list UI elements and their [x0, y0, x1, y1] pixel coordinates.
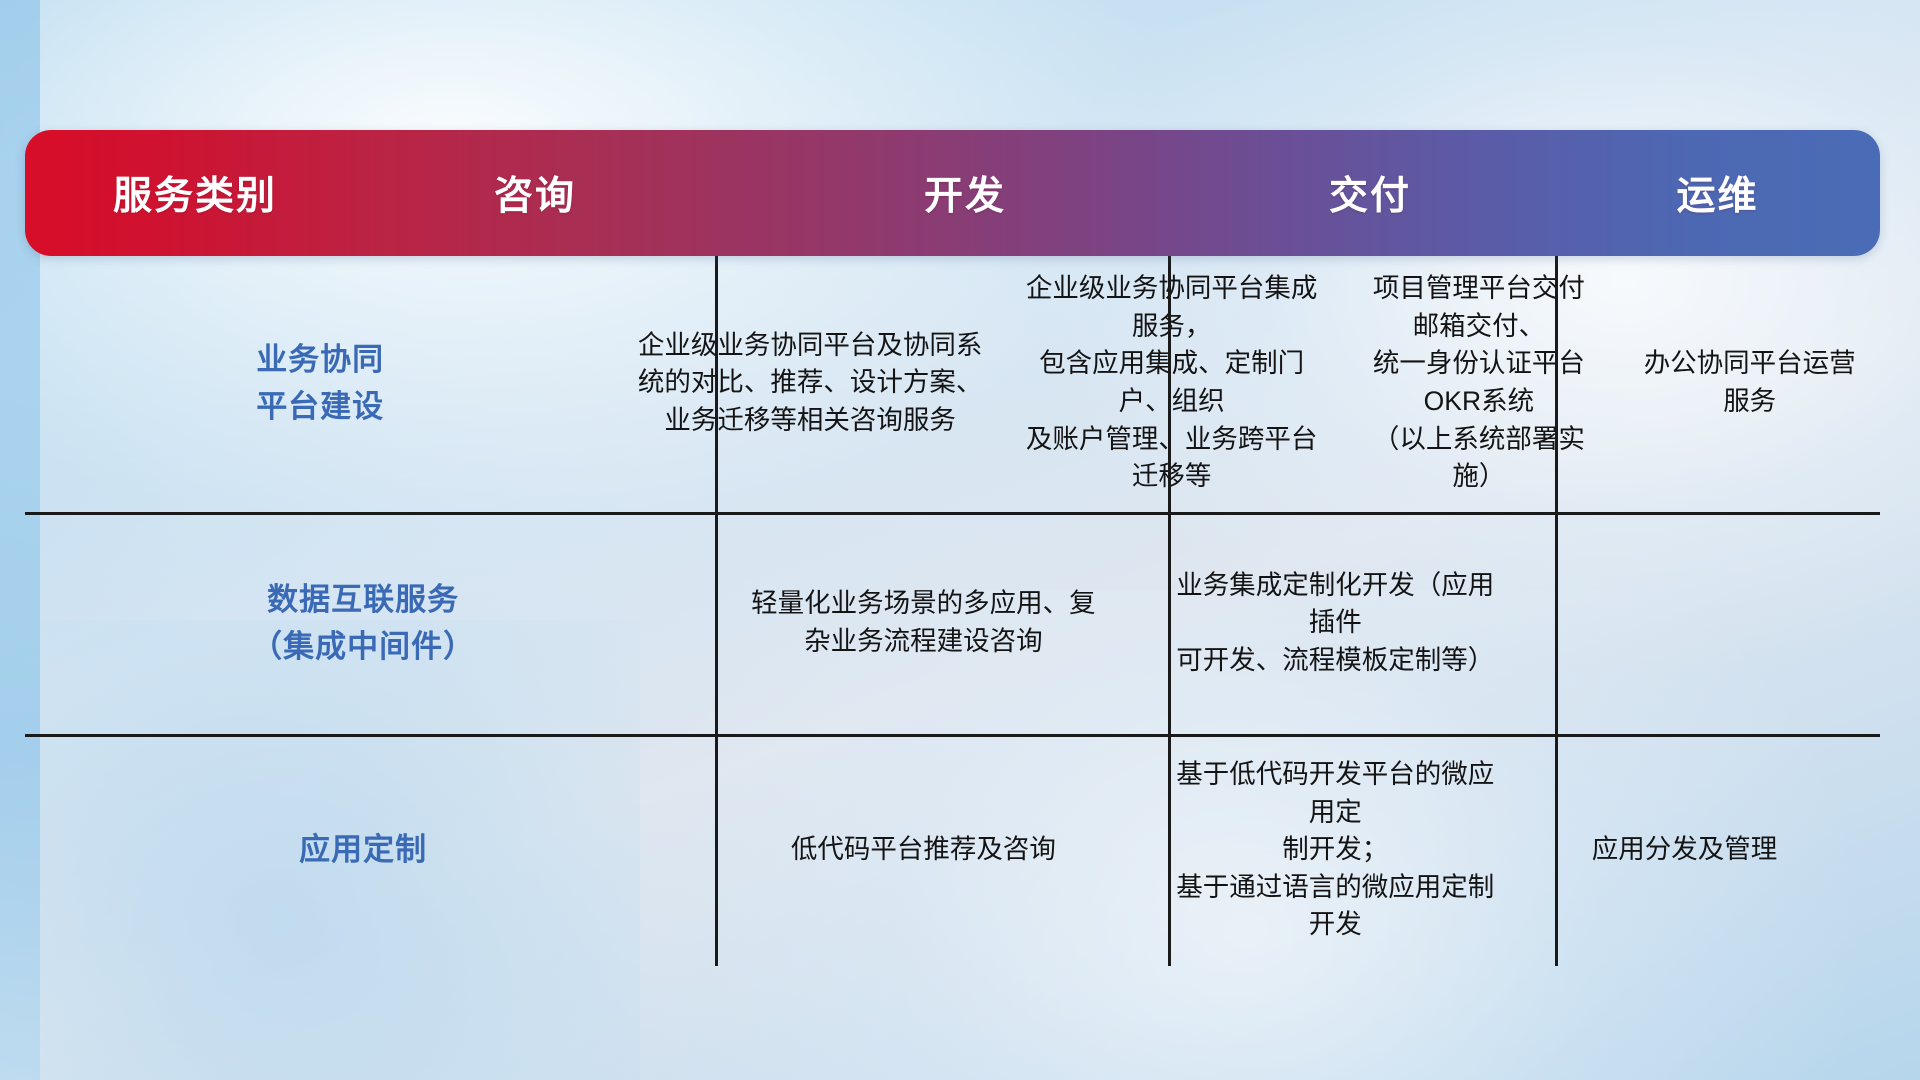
- service-matrix-table: 服务类别 咨询 开发 交付 运维 业务协同 平台建设 企业级业务协同平台及协同系…: [25, 130, 1880, 966]
- cell-develop: 业务集成定制化开发（应用插件 可开发、流程模板定制等）: [1145, 512, 1525, 734]
- column-divider: [1555, 254, 1558, 966]
- column-header-consult: 咨询: [325, 130, 745, 256]
- cell-ops: [1844, 512, 1880, 734]
- row-category-label: 应用定制: [25, 734, 701, 966]
- table-row: 数据互联服务 （集成中间件） 轻量化业务场景的多应用、复 杂业务流程建设咨询 业…: [25, 512, 1880, 734]
- column-divider: [715, 254, 718, 966]
- row-category-label: 业务协同 平台建设: [25, 254, 615, 512]
- row-category-label: 数据互联服务 （集成中间件）: [25, 512, 701, 734]
- cell-deliver: [1525, 512, 1844, 734]
- table-row: 业务协同 平台建设 企业级业务协同平台及协同系 统的对比、推荐、设计方案、 业务…: [25, 254, 1880, 512]
- cell-consult: 低代码平台推荐及咨询: [701, 734, 1145, 966]
- row-divider: [25, 734, 1880, 737]
- column-header-deliver: 交付: [1185, 130, 1555, 256]
- row-divider: [25, 512, 1880, 515]
- table-body: 业务协同 平台建设 企业级业务协同平台及协同系 统的对比、推荐、设计方案、 业务…: [25, 254, 1880, 966]
- table-header-row: 服务类别 咨询 开发 交付 运维: [25, 130, 1880, 256]
- column-header-ops: 运维: [1555, 130, 1880, 256]
- cell-deliver: 应用分发及管理: [1525, 734, 1844, 966]
- table-row: 应用定制 低代码平台推荐及咨询 基于低代码开发平台的微应用定 制开发； 基于通过…: [25, 734, 1880, 966]
- column-header-develop: 开发: [745, 130, 1185, 256]
- cell-ops: 办公协同平台运营服务: [1619, 254, 1880, 512]
- cell-deliver: 项目管理平台交付 邮箱交付、 统一身份认证平台 OKR系统 （以上系统部署实施）: [1338, 254, 1619, 512]
- column-header-category: 服务类别: [25, 130, 325, 256]
- column-divider: [1168, 254, 1171, 966]
- cell-consult: 轻量化业务场景的多应用、复 杂业务流程建设咨询: [701, 512, 1145, 734]
- cell-ops: [1844, 734, 1880, 966]
- cell-develop: 基于低代码开发平台的微应用定 制开发； 基于通过语言的微应用定制开发: [1145, 734, 1525, 966]
- cell-develop: 企业级业务协同平台集成服务， 包含应用集成、定制门户、组织 及账户管理、业务跨平…: [1005, 254, 1339, 512]
- cell-consult: 企业级业务协同平台及协同系 统的对比、推荐、设计方案、 业务迁移等相关咨询服务: [615, 254, 1004, 512]
